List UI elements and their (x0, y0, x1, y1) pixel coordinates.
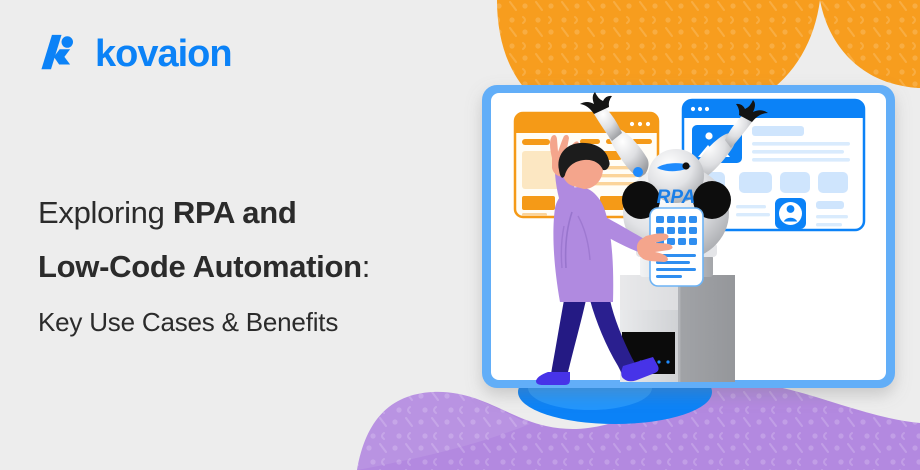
headline-light-text: Exploring (38, 195, 173, 230)
headline-bold-text-2: Low-Code Automation (38, 249, 362, 284)
rpa-robot-and-person-illustration: RPA (460, 0, 920, 470)
brand-name: kovaion (95, 35, 232, 73)
headline-line-2: Low-Code Automation: (38, 240, 468, 294)
kovaion-k-mark-icon (40, 32, 84, 76)
window-left-dots (630, 122, 650, 126)
window-right-dots (691, 107, 709, 111)
banner-root: kovaion Exploring RPA and Low-Code Autom… (0, 0, 920, 470)
user-avatar-icon (775, 198, 806, 229)
headline-line-1: Exploring RPA and (38, 186, 468, 240)
page-title: Exploring RPA and Low-Code Automation: (38, 186, 468, 294)
headline-colon: : (362, 249, 370, 284)
robot-rpa-label: RPA (657, 187, 696, 208)
headline-bold-text-1: RPA and (173, 195, 297, 230)
page-subtitle: Key Use Cases & Benefits (38, 303, 338, 341)
brand-logo[interactable]: kovaion (40, 32, 232, 76)
